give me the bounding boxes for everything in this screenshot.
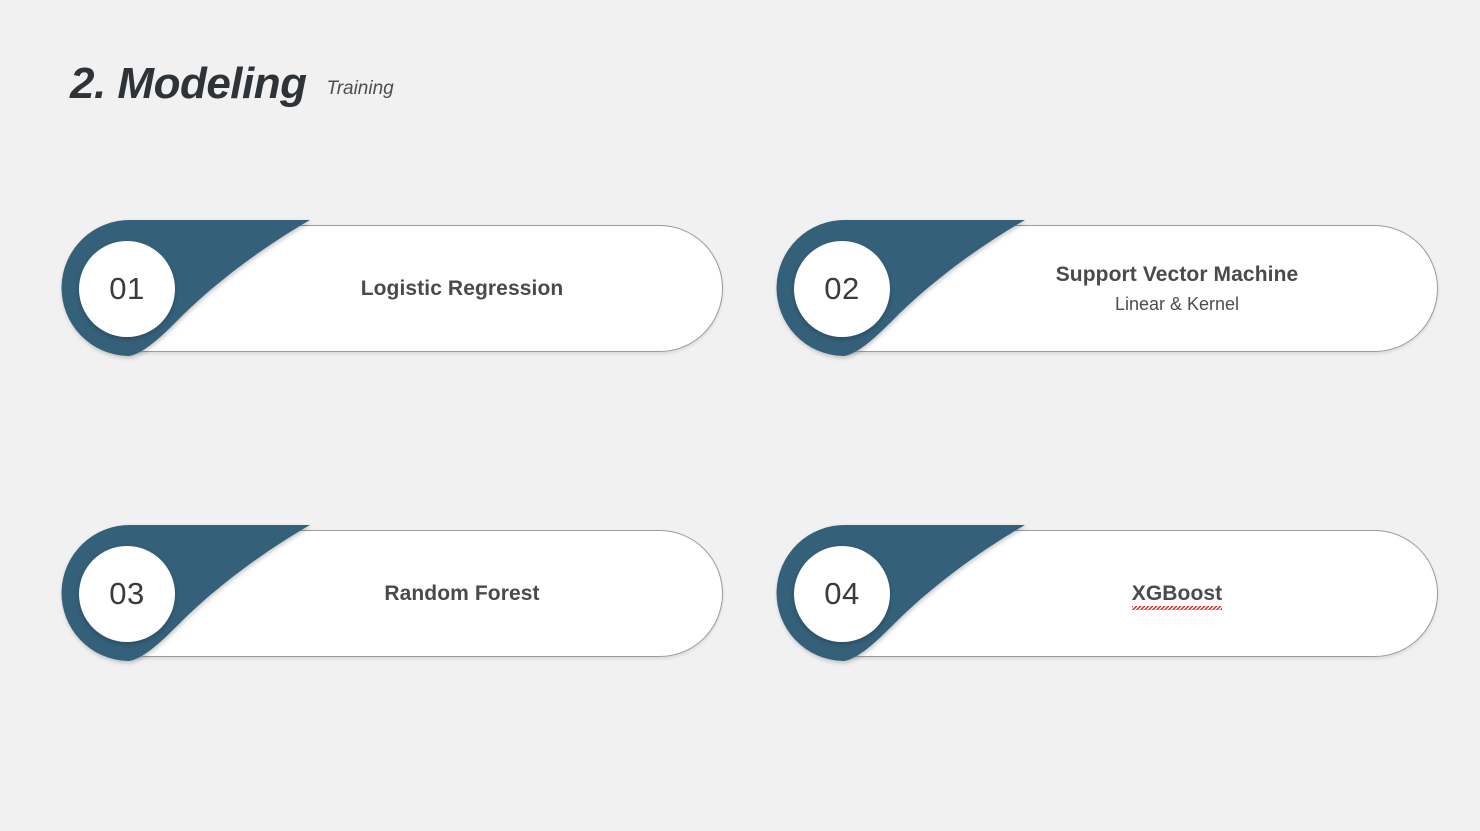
model-card-number-badge: 04 xyxy=(794,546,890,642)
model-card-01[interactable]: 01Logistic Regression xyxy=(62,220,722,358)
model-card-number-badge: 02 xyxy=(794,241,890,337)
model-card-number: 04 xyxy=(824,578,859,609)
model-card-number-badge: 03 xyxy=(79,546,175,642)
model-card-number: 02 xyxy=(824,273,859,304)
model-card-subtitle: Linear & Kernel xyxy=(1115,295,1239,315)
model-card-number: 01 xyxy=(109,273,144,304)
model-card-title: XGBoost xyxy=(1132,582,1223,605)
model-card-title: Random Forest xyxy=(384,582,539,605)
model-card-text: Logistic Regression xyxy=(222,225,702,352)
model-card-number: 03 xyxy=(109,578,144,609)
model-card-title: Support Vector Machine xyxy=(1056,263,1299,286)
model-card-03[interactable]: 03Random Forest xyxy=(62,525,722,663)
model-card-02[interactable]: 02Support Vector MachineLinear & Kernel xyxy=(777,220,1437,358)
model-card-text: Random Forest xyxy=(222,530,702,657)
model-card-title: Logistic Regression xyxy=(361,277,564,300)
model-card-number-badge: 01 xyxy=(79,241,175,337)
model-card-text: XGBoost xyxy=(937,530,1417,657)
model-card-04[interactable]: 04XGBoost xyxy=(777,525,1437,663)
model-card-grid: 01Logistic Regression02Support Vector Ma… xyxy=(0,0,1480,831)
model-card-text: Support Vector MachineLinear & Kernel xyxy=(937,225,1417,352)
